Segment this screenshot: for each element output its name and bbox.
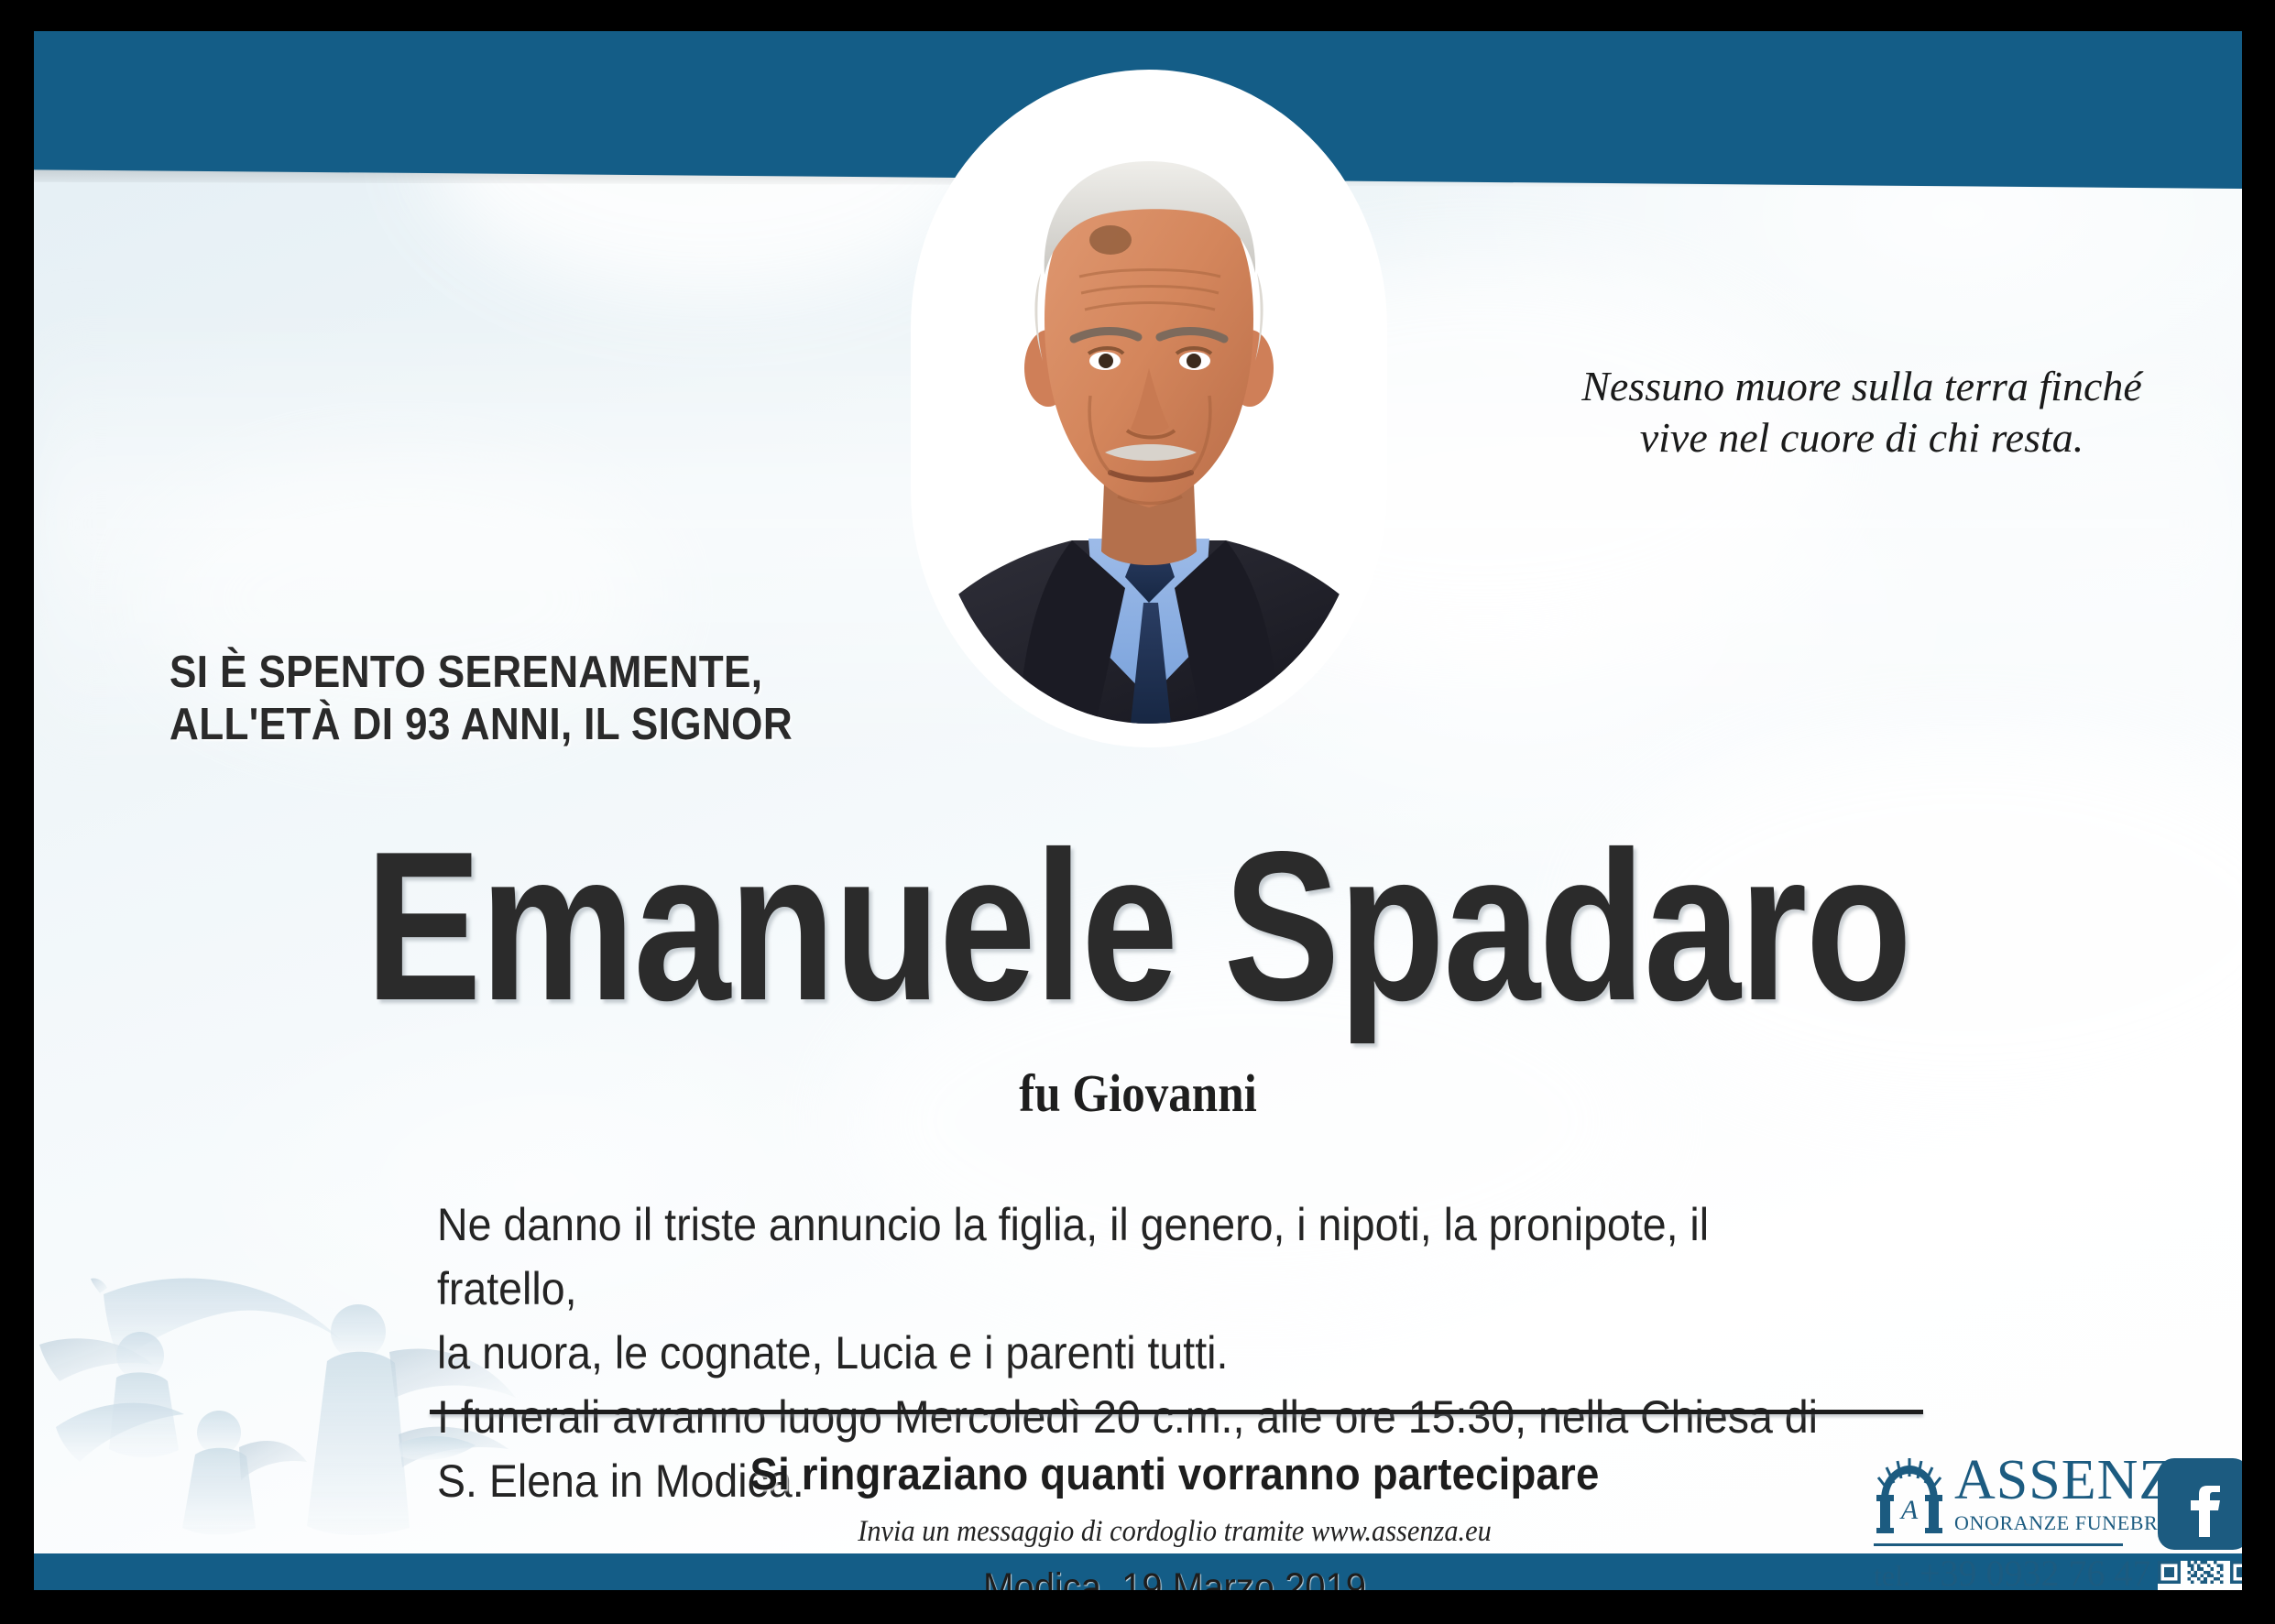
footer-place-date: Modica, 19 Marzo 2019 bbox=[480, 1565, 1869, 1590]
arch-monogram-icon: A bbox=[1874, 1453, 1945, 1535]
social-column bbox=[2158, 1458, 2242, 1590]
quote-line-2: vive nel cuore di chi resta. bbox=[1509, 412, 2215, 463]
svg-text:A: A bbox=[1899, 1495, 1919, 1525]
deceased-father: fu Giovanni bbox=[167, 1063, 2110, 1124]
obituary-card: Nessuno muore sulla terra finché vive ne… bbox=[34, 31, 2242, 1590]
agency-telephone: tel. +39 0932 76 47 82 bbox=[1874, 1552, 2194, 1590]
announcement-line-2: la nuora, le cognate, Lucia e i parenti … bbox=[437, 1321, 1834, 1385]
quote-line-1: Nessuno muore sulla terra finché bbox=[1509, 361, 2215, 412]
footer-website-line[interactable]: Invia un messaggio di cordoglio tramite … bbox=[487, 1515, 1862, 1549]
agency-tel-label: tel. bbox=[1874, 1559, 1910, 1590]
agency-logo-block: A ASSENZA ONORANZE FUNEBRI DAL 1989 tel.… bbox=[1874, 1453, 2194, 1590]
footer-center: Si ringraziano quanti vorranno partecipa… bbox=[428, 1449, 1921, 1590]
agency-divider bbox=[1874, 1543, 2123, 1546]
announcement-kicker: SI È SPENTO SERENAMENTE, ALL'ETÀ DI 93 A… bbox=[170, 647, 793, 751]
agency-logo-top: A ASSENZA ONORANZE FUNEBRI DAL 1989 bbox=[1874, 1453, 2194, 1535]
announcement-line-1: Ne danno il triste annuncio la figlia, i… bbox=[437, 1193, 1834, 1321]
footer-divider bbox=[430, 1410, 1923, 1414]
qr-code-icon[interactable] bbox=[2158, 1561, 2242, 1590]
facebook-icon[interactable] bbox=[2158, 1458, 2242, 1550]
kicker-line-1: SI È SPENTO SERENAMENTE, bbox=[170, 647, 793, 699]
footer-thanks: Si ringraziano quanti vorranno partecipa… bbox=[480, 1449, 1869, 1500]
deceased-photo-illustration bbox=[935, 93, 1363, 724]
portrait-container bbox=[911, 70, 1387, 747]
agency-tagline-text: ONORANZE FUNEBRI bbox=[1954, 1511, 2165, 1534]
announcement-line-3: I funerali avranno luogo Mercoledì 20 c.… bbox=[437, 1385, 1834, 1449]
obituary-poster-frame: Nessuno muore sulla terra finché vive ne… bbox=[0, 0, 2275, 1624]
memorial-quote: Nessuno muore sulla terra finché vive ne… bbox=[1509, 361, 2215, 463]
agency-tel-number: +39 0932 76 47 82 bbox=[1920, 1553, 2197, 1590]
kicker-line-2: ALL'ETÀ DI 93 ANNI, IL SIGNOR bbox=[170, 699, 793, 751]
portrait-photo bbox=[935, 93, 1363, 724]
deceased-name: Emanuele Spadaro bbox=[233, 821, 2043, 1033]
